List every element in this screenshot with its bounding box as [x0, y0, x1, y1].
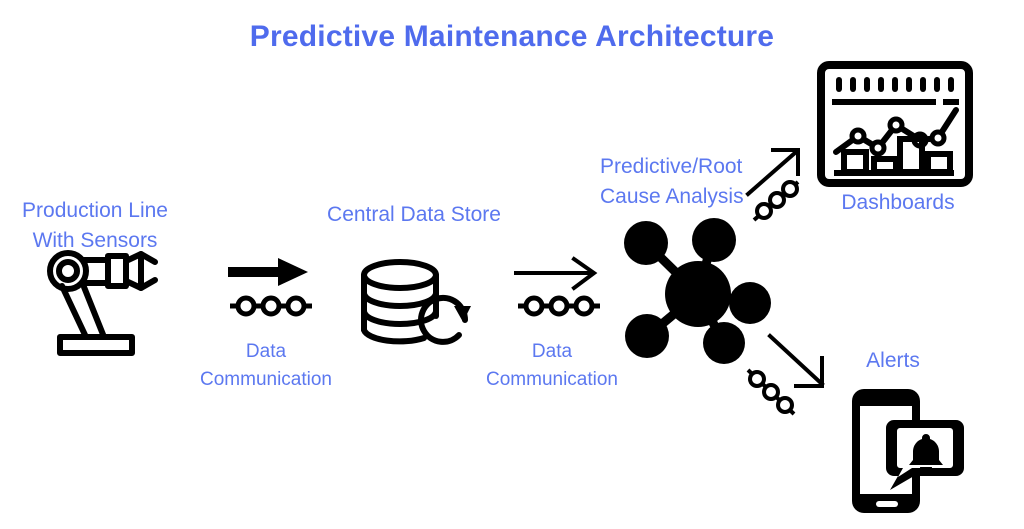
diagram-canvas: Predictive Maintenance Architecture Prod…	[0, 0, 1024, 529]
label-dashboards: Dashboards	[808, 188, 988, 218]
edge-label-data-communication-1: Data Communication	[176, 338, 356, 394]
arrow-right-thin-icon	[516, 258, 608, 320]
robot-arm-icon	[42, 246, 162, 356]
label-central-data-store: Central Data Store	[318, 200, 510, 230]
bead-chain-icon	[230, 298, 312, 314]
bead-chain-diagonal-icon	[748, 370, 794, 414]
arrow-down-right-icon	[746, 330, 850, 422]
database-refresh-icon	[356, 258, 476, 354]
bead-chain-diagonal-icon	[754, 182, 798, 220]
bead-chain-icon	[518, 298, 600, 314]
phone-notification-bell-icon	[838, 384, 968, 518]
edge-label-data-communication-2: Data Communication	[462, 338, 642, 394]
arrow-right-bold-icon	[228, 258, 320, 320]
label-alerts: Alerts	[828, 346, 958, 376]
dashboard-chart-icon	[816, 60, 974, 188]
page-title: Predictive Maintenance Architecture	[0, 20, 1024, 54]
